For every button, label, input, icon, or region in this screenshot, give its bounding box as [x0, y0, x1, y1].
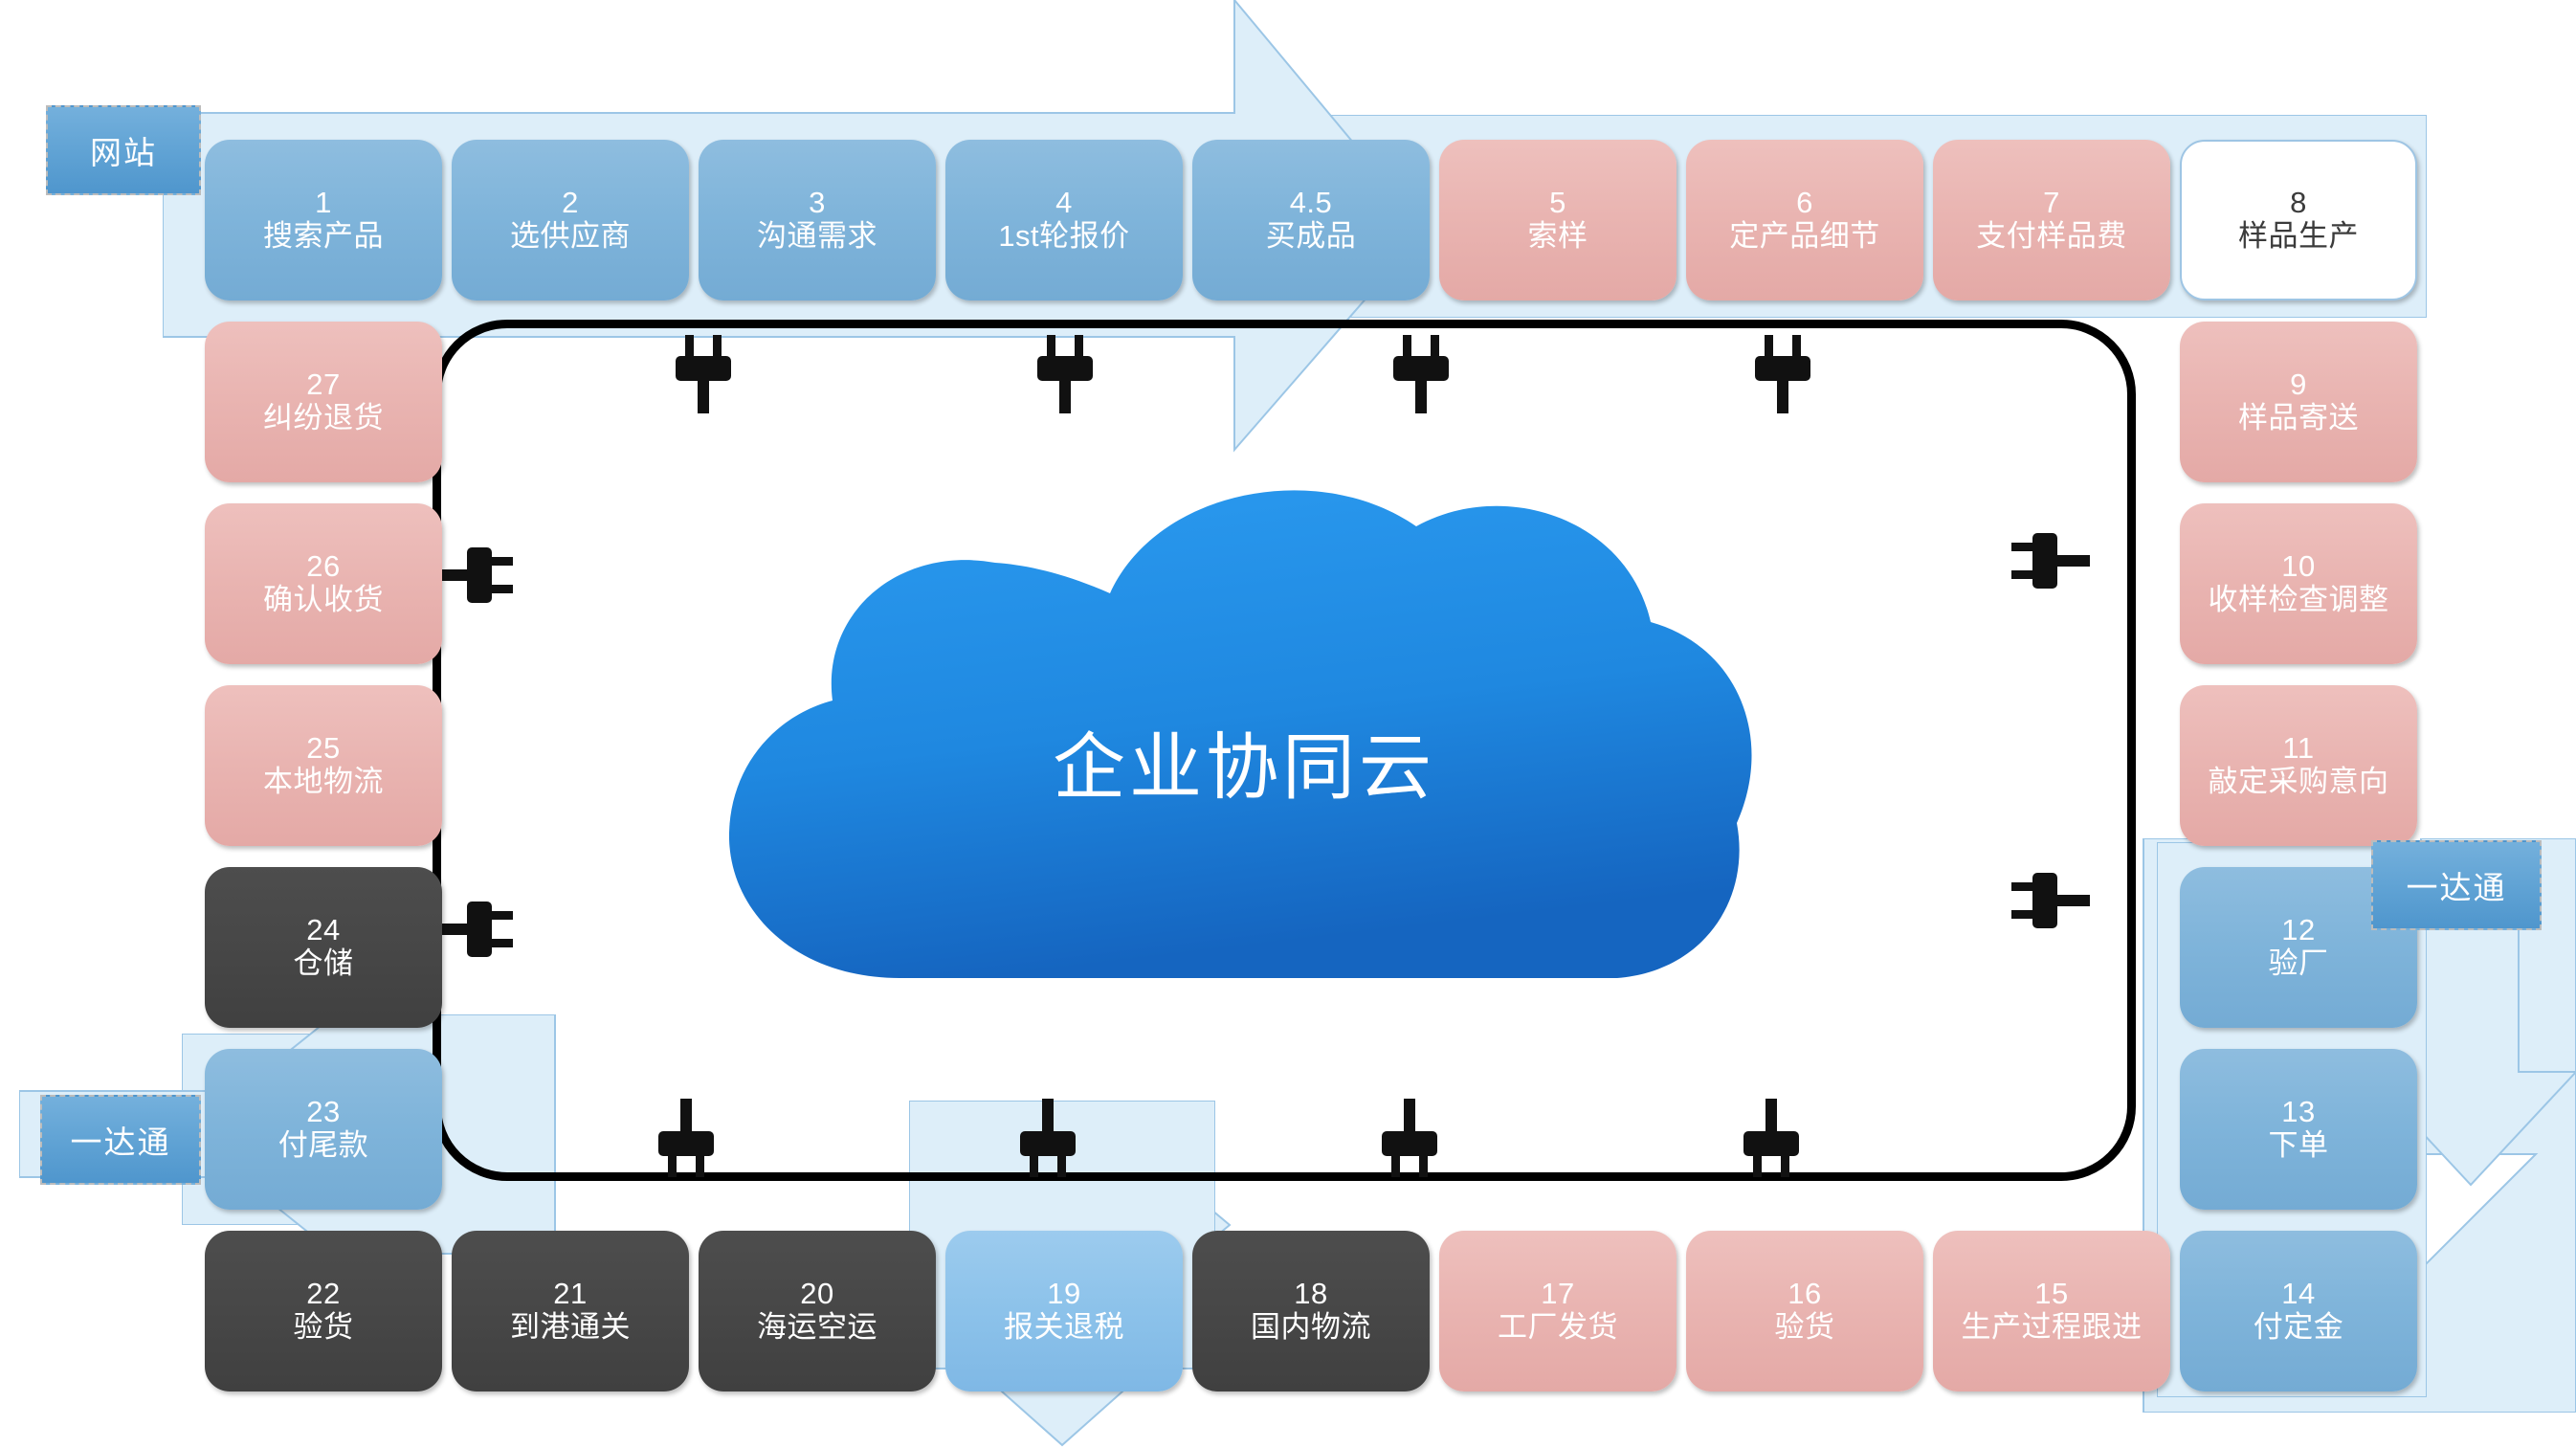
- plug-icon: [440, 890, 507, 968]
- process-step-label: 确认收货: [263, 584, 384, 617]
- process-step-label: 买成品: [1266, 220, 1357, 254]
- process-step-13[interactable]: 13下单: [2180, 1049, 2417, 1210]
- process-step-label: 仓储: [294, 947, 354, 981]
- process-step-9[interactable]: 9样品寄送: [2180, 322, 2417, 482]
- process-step-22[interactable]: 22验货: [205, 1231, 442, 1391]
- process-step-number: 18: [1294, 1278, 1327, 1311]
- process-step-number: 7: [2043, 187, 2060, 220]
- process-step-23[interactable]: 23付尾款: [205, 1049, 442, 1210]
- plug-icon: [2017, 522, 2084, 600]
- process-step-14[interactable]: 14付定金: [2180, 1231, 2417, 1391]
- process-step-label: 报关退税: [1004, 1311, 1124, 1345]
- process-step-19[interactable]: 19报关退税: [945, 1231, 1183, 1391]
- chip-yidatong-right[interactable]: 一达通: [2371, 840, 2542, 930]
- process-step-label: 样品寄送: [2238, 402, 2359, 435]
- plug-icon: [440, 536, 507, 614]
- process-step-26[interactable]: 26确认收货: [205, 503, 442, 664]
- process-step-24[interactable]: 24仓储: [205, 867, 442, 1028]
- process-step-number: 3: [809, 187, 826, 220]
- process-step-21[interactable]: 21到港通关: [452, 1231, 689, 1391]
- process-step-label: 到港通关: [510, 1311, 631, 1345]
- process-step-7[interactable]: 7支付样品费: [1933, 140, 2170, 301]
- plug-icon: [1014, 1099, 1081, 1177]
- process-step-number: 12: [2281, 914, 2315, 947]
- process-step-number: 5: [1549, 187, 1566, 220]
- process-step-number: 2: [562, 187, 579, 220]
- process-step-label: 索样: [1528, 220, 1588, 254]
- process-step-number: 9: [2290, 368, 2307, 402]
- process-step-label: 付尾款: [278, 1129, 369, 1163]
- process-step-20[interactable]: 20海运空运: [699, 1231, 936, 1391]
- plug-icon: [670, 335, 737, 413]
- process-step-number: 1: [315, 187, 332, 220]
- process-step-label: 验货: [1775, 1311, 1835, 1345]
- process-step-label: 付定金: [2254, 1311, 2344, 1345]
- process-step-label: 定产品细节: [1729, 220, 1880, 254]
- process-step-label: 沟通需求: [757, 220, 877, 254]
- plug-icon: [1738, 1099, 1805, 1177]
- plug-icon: [2017, 861, 2084, 940]
- process-step-label: 国内物流: [1251, 1311, 1371, 1345]
- process-step-3[interactable]: 3沟通需求: [699, 140, 936, 301]
- process-step-number: 20: [800, 1278, 833, 1311]
- chip-website-label: 网站: [90, 127, 157, 173]
- process-step-15[interactable]: 15生产过程跟进: [1933, 1231, 2170, 1391]
- chip-website[interactable]: 网站: [46, 105, 201, 195]
- plug-icon: [1749, 335, 1816, 413]
- process-step-label: 1st轮报价: [998, 220, 1129, 254]
- process-step-16[interactable]: 16验货: [1686, 1231, 1923, 1391]
- process-step-label: 收样检查调整: [2209, 584, 2389, 617]
- process-step-number: 26: [306, 550, 340, 584]
- process-step-label: 纠纷退货: [263, 402, 384, 435]
- process-step-number: 19: [1047, 1278, 1080, 1311]
- process-step-number: 11: [2282, 732, 2314, 766]
- process-step-label: 搜索产品: [263, 220, 384, 254]
- process-step-label: 验厂: [2269, 947, 2329, 981]
- process-step-label: 敲定采购意向: [2209, 766, 2389, 799]
- process-step-label: 样品生产: [2238, 220, 2359, 254]
- process-step-number: 23: [306, 1096, 340, 1129]
- process-step-label: 本地物流: [263, 766, 384, 799]
- process-step-label: 下单: [2269, 1129, 2329, 1163]
- process-step-8[interactable]: 8样品生产: [2180, 140, 2417, 301]
- chip-yidatong-left-label: 一达通: [71, 1117, 171, 1163]
- process-step-25[interactable]: 25本地物流: [205, 685, 442, 846]
- plug-icon: [1388, 335, 1455, 413]
- process-step-6[interactable]: 6定产品细节: [1686, 140, 1923, 301]
- process-step-label: 生产过程跟进: [1962, 1311, 2143, 1345]
- process-step-number: 4: [1055, 187, 1073, 220]
- process-step-1[interactable]: 1搜索产品: [205, 140, 442, 301]
- process-step-number: 16: [1788, 1278, 1821, 1311]
- plug-icon: [1376, 1099, 1443, 1177]
- process-step-number: 6: [1796, 187, 1813, 220]
- diagram-canvas: 企业协同云: [0, 0, 2576, 1447]
- process-step-4[interactable]: 41st轮报价: [945, 140, 1183, 301]
- process-step-2[interactable]: 2选供应商: [452, 140, 689, 301]
- plug-icon: [1032, 335, 1099, 413]
- process-step-number: 24: [306, 914, 340, 947]
- process-step-4-5[interactable]: 4.5买成品: [1192, 140, 1430, 301]
- process-step-number: 15: [2034, 1278, 2068, 1311]
- process-step-10[interactable]: 10收样检查调整: [2180, 503, 2417, 664]
- process-step-18[interactable]: 18国内物流: [1192, 1231, 1430, 1391]
- process-step-label: 工厂发货: [1498, 1311, 1618, 1345]
- process-step-27[interactable]: 27纠纷退货: [205, 322, 442, 482]
- process-step-11[interactable]: 11敲定采购意向: [2180, 685, 2417, 846]
- process-step-number: 14: [2281, 1278, 2315, 1311]
- process-step-number: 4.5: [1290, 187, 1333, 220]
- process-step-number: 25: [306, 732, 340, 766]
- process-step-number: 13: [2281, 1096, 2315, 1129]
- cloud-label: 企业协同云: [708, 708, 1780, 813]
- chip-yidatong-left[interactable]: 一达通: [40, 1095, 201, 1185]
- plug-icon: [653, 1099, 720, 1177]
- process-step-number: 22: [306, 1278, 340, 1311]
- process-step-label: 选供应商: [510, 220, 631, 254]
- process-step-17[interactable]: 17工厂发货: [1439, 1231, 1677, 1391]
- chip-yidatong-right-label: 一达通: [2407, 862, 2507, 908]
- process-step-label: 海运空运: [757, 1311, 877, 1345]
- process-step-label: 验货: [294, 1311, 354, 1345]
- process-step-number: 17: [1541, 1278, 1574, 1311]
- process-step-number: 27: [306, 368, 340, 402]
- process-step-label: 支付样品费: [1976, 220, 2127, 254]
- process-step-5[interactable]: 5索样: [1439, 140, 1677, 301]
- process-step-number: 10: [2281, 550, 2315, 584]
- process-step-number: 8: [2290, 187, 2307, 220]
- process-step-number: 21: [553, 1278, 587, 1311]
